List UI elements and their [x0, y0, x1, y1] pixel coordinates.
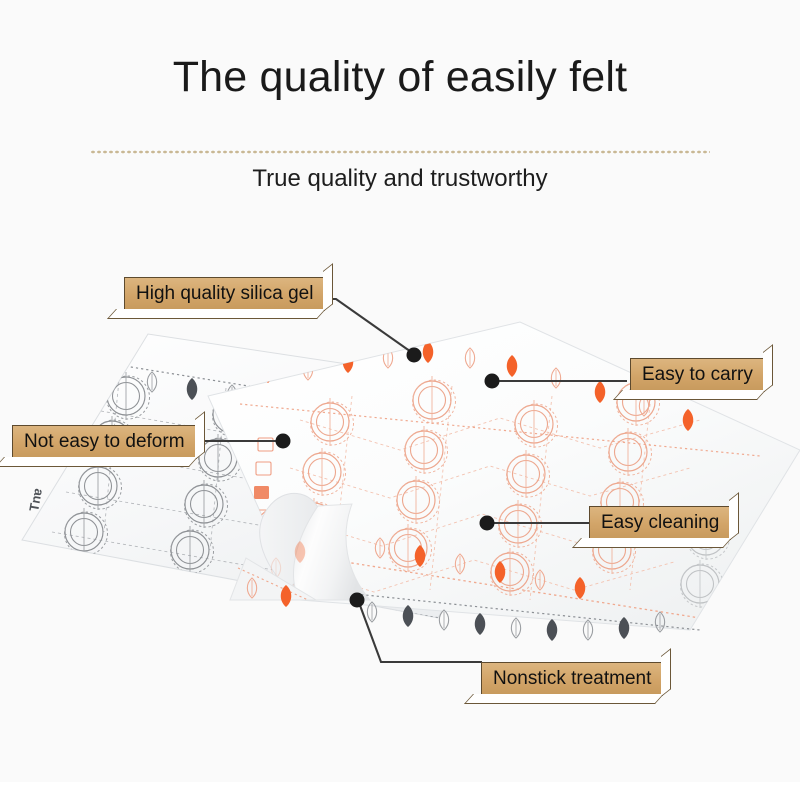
callout-easy-cleaning[interactable]: Easy cleaning: [589, 506, 731, 540]
callout-label: Not easy to deform: [24, 431, 185, 453]
callout-label: High quality silica gel: [136, 283, 313, 305]
callout-high-quality-silica-gel[interactable]: High quality silica gel: [124, 277, 325, 311]
callout-label: Nonstick treatment: [493, 668, 651, 690]
callout-label: Easy cleaning: [601, 512, 719, 534]
callout-box[interactable]: Easy to carry: [630, 358, 765, 392]
product-feature-banner: The quality of easily felt True quality …: [0, 0, 800, 800]
dotted-divider: [90, 150, 710, 154]
page-subtitle: True quality and trustworthy: [0, 165, 800, 193]
callout-box[interactable]: Nonstick treatment: [481, 662, 663, 696]
callout-box[interactable]: Easy cleaning: [589, 506, 731, 540]
callout-label: Easy to carry: [642, 364, 753, 386]
callout-not-easy-to-deform[interactable]: Not easy to deform: [12, 425, 197, 459]
callout-box[interactable]: Not easy to deform: [12, 425, 197, 459]
callout-nonstick-treatment[interactable]: Nonstick treatment: [481, 662, 663, 696]
callout-easy-to-carry[interactable]: Easy to carry: [630, 358, 765, 392]
page-title: The quality of easily felt: [0, 54, 800, 101]
callout-box[interactable]: High quality silica gel: [124, 277, 325, 311]
